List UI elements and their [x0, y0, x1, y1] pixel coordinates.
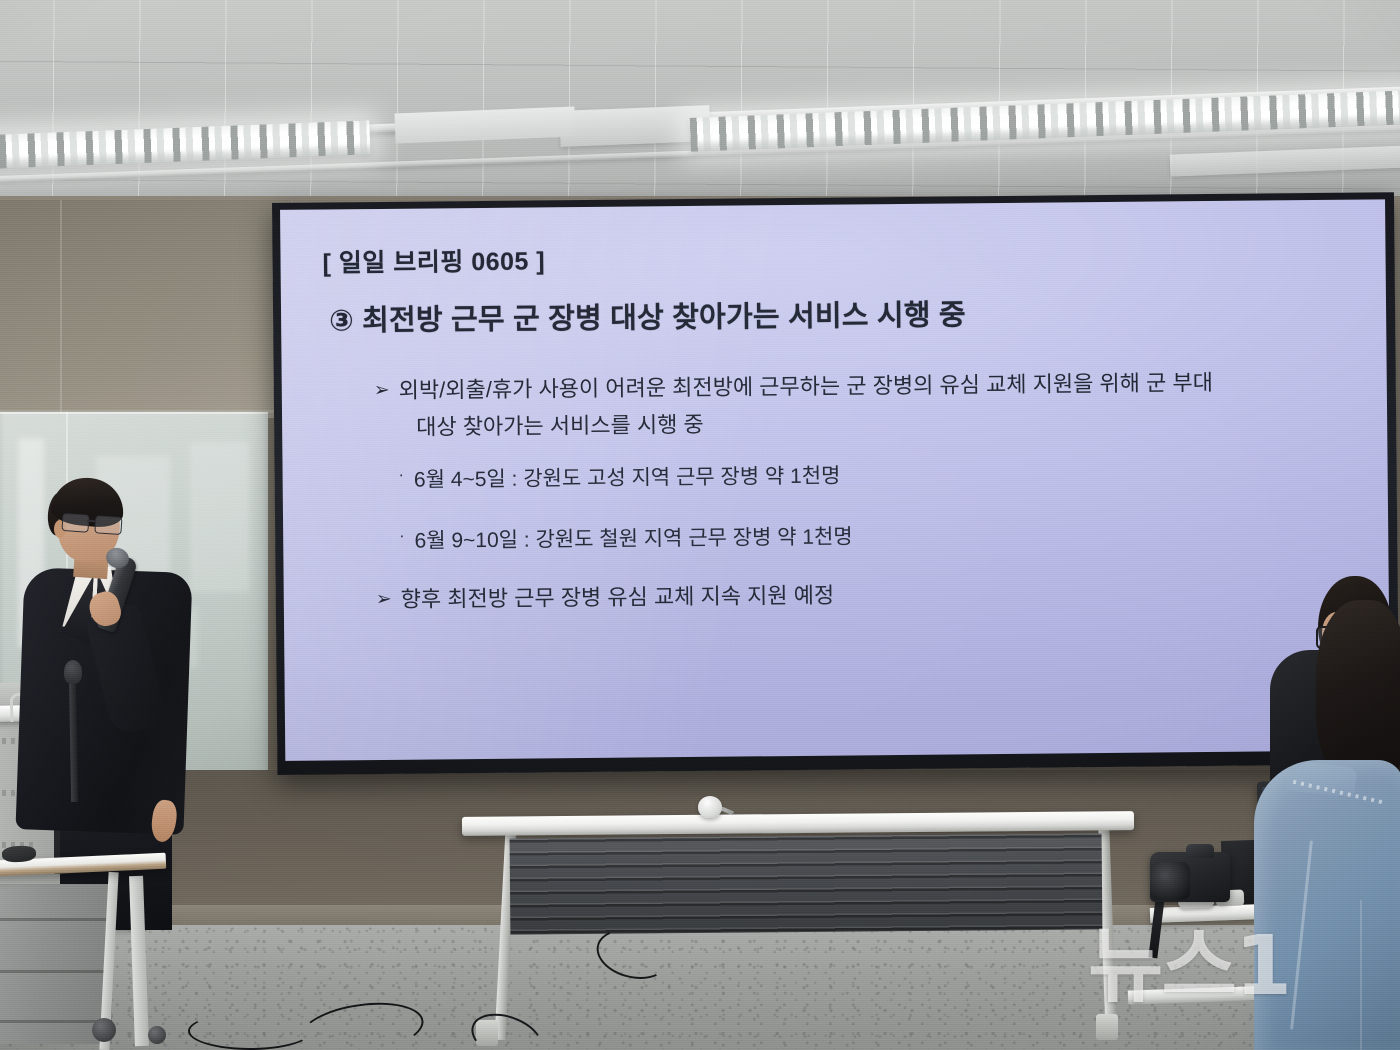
- gooseneck-microphone-icon: [64, 660, 82, 684]
- bullet-marker-icon: ·: [399, 464, 405, 488]
- wall-seam: [60, 200, 62, 412]
- screen-surface: [ 일일 브리핑 0605 ] ③ 최전방 근무 군 장병 대상 찾아가는 서비…: [280, 199, 1390, 761]
- press-briefing-photo: [ 일일 브리핑 0605 ] ③ 최전방 근무 군 장병 대상 찾아가는 서비…: [0, 0, 1400, 1050]
- bullet-item: · 6월 9~10일 : 강원도 철원 지역 근무 장병 약 1천명: [399, 516, 1368, 555]
- bullet-item: ➢ 향후 최전방 근무 장병 유심 교체 지속 지원 예정: [376, 577, 1369, 615]
- table-modesty-panel: [510, 833, 1103, 934]
- slide-kicker: [ 일일 브리핑 0605 ]: [322, 241, 545, 279]
- bullet-marker-icon: ➢: [374, 377, 390, 405]
- bullet-text: 6월 9~10일 : 강원도 철원 지역 근무 장병 약 1천명: [414, 521, 852, 555]
- bullet-text: 외박/외출/휴가 사용이 어려운 최전방에 근무하는 군 장병의 유심 교체 지…: [399, 369, 1213, 405]
- bullet-marker-icon: ➢: [376, 586, 392, 614]
- bullet-item: · 6월 4~5일 : 강원도 고성 지역 근무 장병 약 1천명: [399, 455, 1368, 494]
- cabinet-drawer-line: [0, 970, 112, 973]
- ceiling: [0, 0, 1400, 215]
- wall-panel-upper-left: [0, 200, 292, 418]
- caster-wheel: [148, 1026, 166, 1044]
- glasses-lens-right: [94, 515, 122, 535]
- slide-title: ③ 최전방 근무 군 장병 대상 찾아가는 서비스 시행 중: [329, 291, 966, 339]
- glasses-lens-left: [61, 513, 89, 533]
- table-foot: [1096, 1014, 1118, 1040]
- bullet-marker-icon: ·: [399, 525, 405, 549]
- presenter-glasses-icon: [61, 513, 122, 534]
- table-microphone-icon: [698, 796, 722, 818]
- caster-wheel: [92, 1018, 116, 1042]
- bullet-text: 6월 4~5일 : 강원도 고성 지역 근무 장병 약 1천명: [414, 460, 841, 494]
- denim-seam: [1360, 900, 1362, 1050]
- camera-lens-icon: [1150, 862, 1190, 900]
- projection-screen[interactable]: [ 일일 브리핑 0605 ] ③ 최전방 근무 군 장병 대상 찾아가는 서비…: [272, 192, 1399, 775]
- panel-slats: [510, 833, 1103, 934]
- attendee-denim-hair: [1316, 600, 1400, 780]
- slide-bullet-list: ➢ 외박/외출/휴가 사용이 어려운 최전방에 근무하는 군 장병의 유심 교체…: [374, 368, 1369, 623]
- light-housing: [559, 105, 710, 147]
- bullet-item: ➢ 외박/외출/휴가 사용이 어려운 최전방에 근무하는 군 장병의 유심 교체…: [374, 368, 1367, 406]
- presentation-slide: [ 일일 브리핑 0605 ] ③ 최전방 근무 군 장병 대상 찾아가는 서비…: [280, 199, 1390, 761]
- camera-pentaprism: [1186, 844, 1214, 858]
- bullet-continuation-text: 대상 찾아가는 서비스를 시행 중: [416, 404, 1367, 442]
- bullet-text: 향후 최전방 근무 장병 유심 교체 지속 지원 예정: [401, 582, 835, 615]
- floor-cable: [188, 1012, 312, 1050]
- cabinet-drawer-line: [0, 918, 112, 921]
